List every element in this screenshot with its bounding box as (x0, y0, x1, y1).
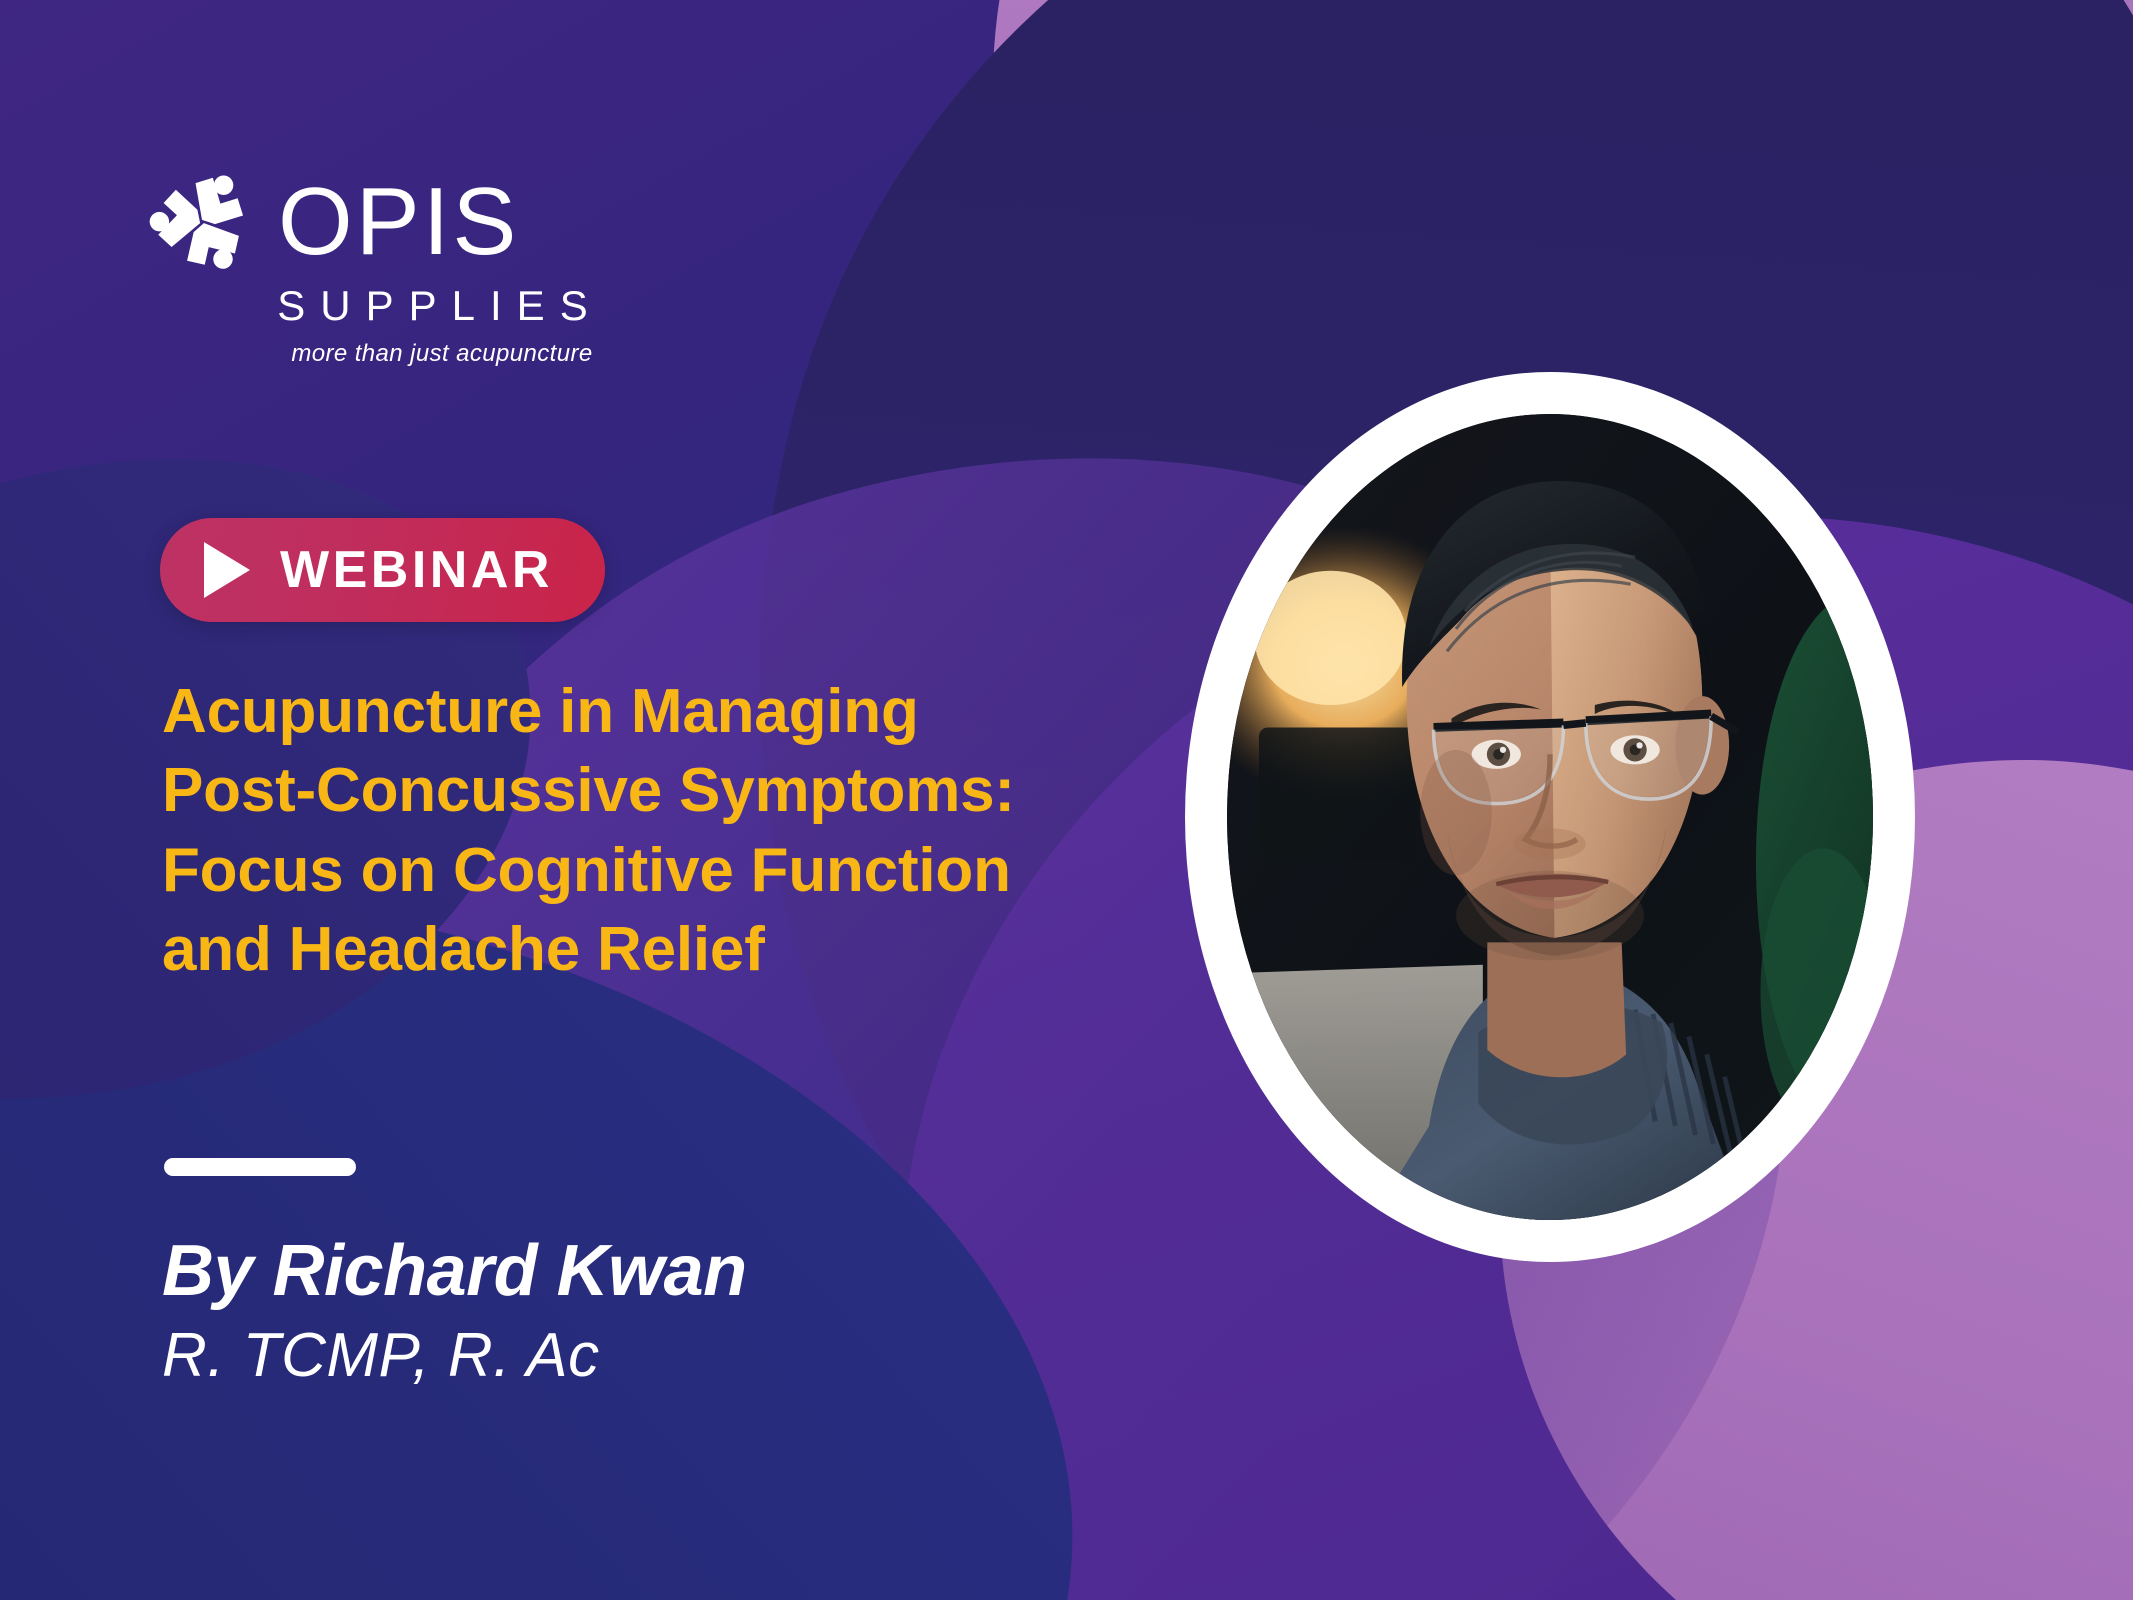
divider-bar (164, 1158, 356, 1176)
opis-pinwheel-figures-icon (148, 168, 256, 276)
portrait-frame (1185, 372, 1915, 1262)
webinar-badge-label: WEBINAR (280, 540, 553, 600)
logo-row: OPIS (148, 168, 618, 276)
title-line-2: Post-Concussive Symptoms: (162, 751, 1162, 830)
title-line-4: and Headache Relief (162, 910, 1162, 989)
brand-logo: OPIS SUPPLIES more than just acupuncture (148, 168, 618, 368)
logo-tagline: more than just acupuncture (148, 340, 618, 368)
poster-content: OPIS SUPPLIES more than just acupuncture… (0, 0, 2133, 1600)
portrait-richard-kwan (1227, 414, 1873, 1220)
presenter-name: By Richard Kwan (162, 1232, 747, 1311)
logo-wordmark: OPIS (278, 178, 519, 266)
presenter-credentials: R. TCMP, R. Ac (162, 1319, 747, 1392)
play-icon (204, 542, 250, 598)
title-line-1: Acupuncture in Managing (162, 672, 1162, 751)
title-line-3: Focus on Cognitive Function (162, 831, 1162, 910)
webinar-title: Acupuncture in Managing Post-Concussive … (162, 672, 1162, 989)
webinar-badge[interactable]: WEBINAR (160, 518, 605, 622)
presenter-block: By Richard Kwan R. TCMP, R. Ac (162, 1232, 747, 1392)
webinar-promo-poster: OPIS SUPPLIES more than just acupuncture… (0, 0, 2133, 1600)
logo-sub-wordmark: SUPPLIES (148, 282, 618, 330)
